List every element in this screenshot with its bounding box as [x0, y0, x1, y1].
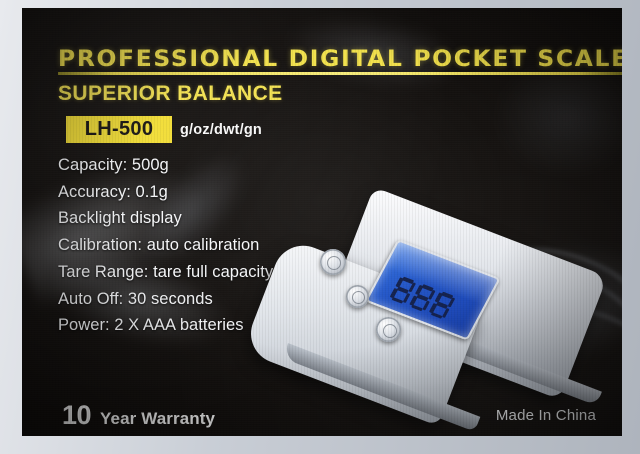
package-subtitle: SUPERIOR BALANCE [58, 82, 283, 106]
pocket-scale-product-image [290, 193, 620, 403]
measurement-units-label: g/oz/dwt/gn [180, 122, 262, 138]
title-underline [58, 72, 622, 75]
smoke-wisp [492, 68, 622, 178]
box-printed-face: PROFESSIONAL DIGITAL POCKET SCALE SUPERI… [22, 8, 622, 436]
warranty-years: 10 [62, 400, 91, 431]
product-box-photo: PROFESSIONAL DIGITAL POCKET SCALE SUPERI… [0, 0, 640, 454]
mode-button[interactable] [320, 249, 346, 275]
model-number-badge: LH-500 [66, 116, 172, 143]
tare-button[interactable] [346, 285, 369, 308]
warranty-label: Year Warranty [100, 409, 215, 429]
model-number-label: LH-500 [85, 118, 154, 141]
warranty-block: 10 Year Warranty [62, 400, 215, 431]
country-of-origin: Made In China [496, 407, 596, 424]
power-button[interactable] [376, 317, 401, 342]
package-title: PROFESSIONAL DIGITAL POCKET SCALE [58, 46, 622, 72]
spec-item: Capacity: 500g [58, 152, 358, 179]
